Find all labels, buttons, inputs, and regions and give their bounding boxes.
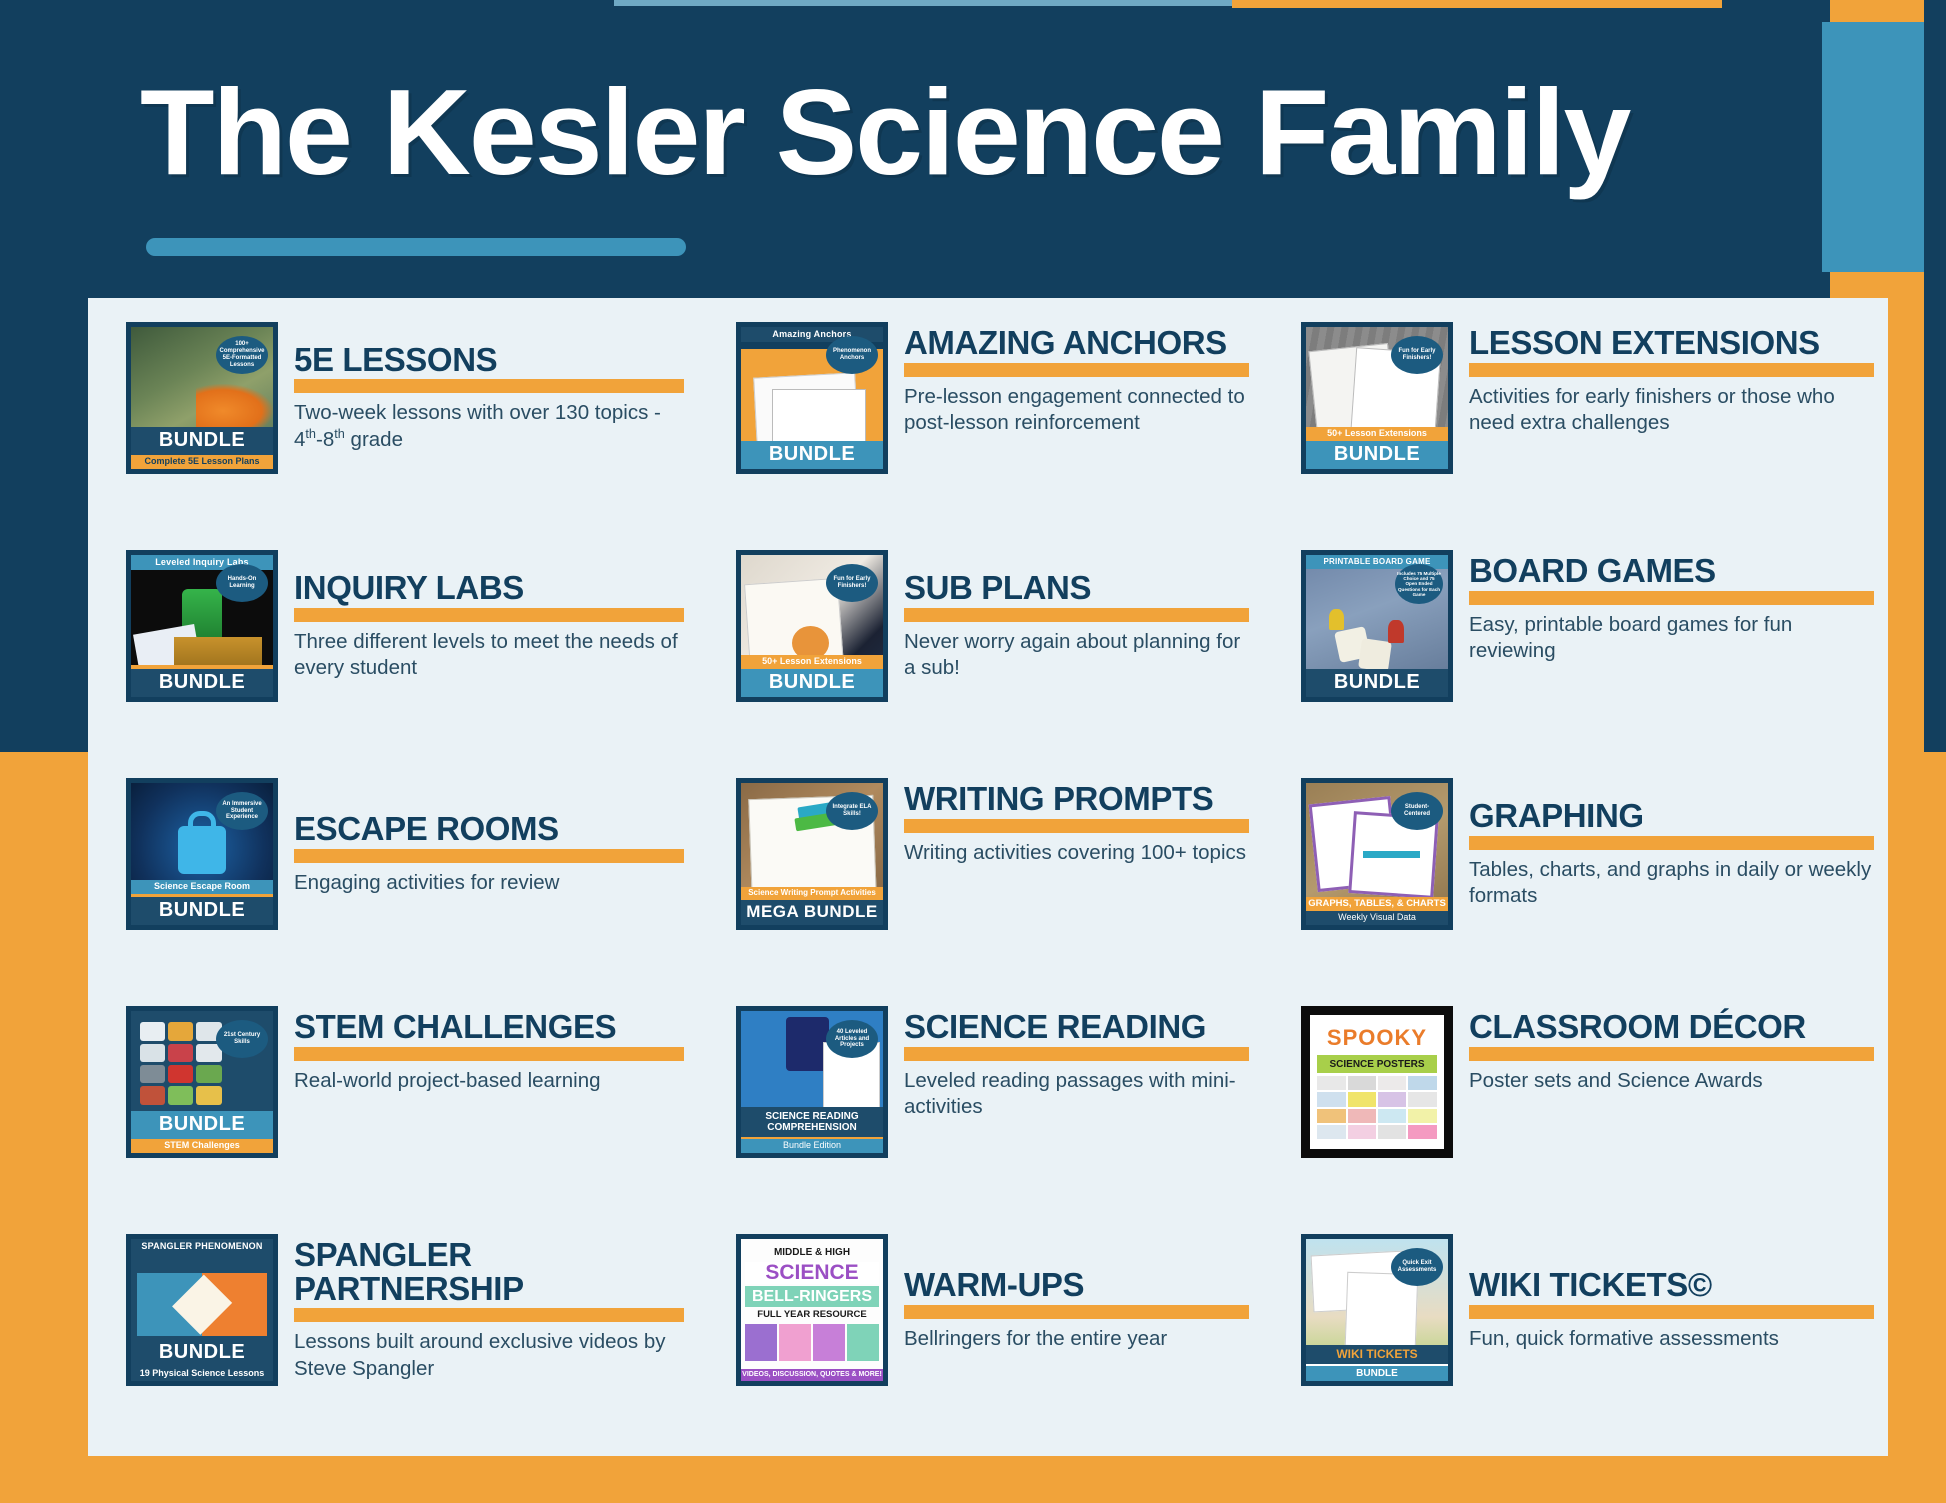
product-thumbnail-graphing: Student-Centered GRAPHS, TABLES, & CHART… [1301, 778, 1453, 930]
page-title: The Kesler Science Family [140, 62, 1629, 202]
product-thumbnail-spangler: SPANGLER PHENOMENON BUNDLE 19 Physical S… [126, 1234, 278, 1386]
product-title: BOARD GAMES [1469, 554, 1874, 588]
thumbnail-bundle-label: BUNDLE [741, 441, 883, 469]
product-grid: 100+ Comprehensive 5E-Formatted Lessons … [88, 298, 1888, 1456]
product-title: SPANGLER PARTNERSHIP [294, 1238, 684, 1305]
product-body: 5E LESSONS Two-week lessons with over 13… [278, 322, 684, 474]
dice-second-icon [1358, 638, 1392, 672]
thumbnail-band-label: Complete 5E Lesson Plans [131, 455, 273, 469]
product-grid-card: 100+ Comprehensive 5E-Formatted Lessons … [88, 298, 1888, 1456]
thumbnail-wrap: 40 Leveled Articles and Projects SCIENCE… [736, 1006, 888, 1158]
title-rule-orange [904, 363, 1249, 377]
product-body: GRAPHING Tables, charts, and graphs in d… [1453, 778, 1874, 930]
title-rule-orange [1469, 363, 1874, 377]
product-body: SCIENCE READING Leveled reading passages… [888, 1006, 1249, 1158]
thumbnail-footer: BUNDLE [131, 665, 273, 697]
thumbnail-footer: BUNDLE 19 Physical Science Lessons [131, 1339, 273, 1381]
game-pawn-red-icon [1388, 620, 1404, 643]
product-title: AMAZING ANCHORS [904, 326, 1249, 360]
product-title: STEM CHALLENGES [294, 1010, 684, 1044]
product-body: WARM-UPS Bellringers for the entire year [888, 1234, 1249, 1386]
bellringers-word-icon: BELL-RINGERS [745, 1286, 879, 1307]
thumbnail-band-label: WIKI TICKETS [1306, 1345, 1448, 1364]
product-thumbnail-amazing-anchors: Amazing Anchors Phenomenon Anchors BUNDL… [736, 322, 888, 474]
product-thumbnail-sub-plans: Fun for Early Finishers! 50+ Lesson Exte… [736, 550, 888, 702]
product-description: Activities for early finishers or those … [1469, 384, 1874, 436]
product-description: Fun, quick formative assessments [1469, 1326, 1874, 1352]
product-description: Lessons built around exclusive videos by… [294, 1329, 684, 1381]
thumbnail-badge: 100+ Comprehensive 5E-Formatted Lessons [216, 336, 268, 374]
thumbnail-footer: WIKI TICKETS BUNDLE [1306, 1345, 1448, 1381]
thumbnail-wrap: SPANGLER PHENOMENON BUNDLE 19 Physical S… [126, 1234, 278, 1386]
thumbnail-band-label: 50+ Lesson Extensions [741, 655, 883, 669]
product-title: WRITING PROMPTS [904, 782, 1249, 816]
poster-root: The Kesler Science Family 100+ Comprehen… [0, 0, 1946, 1503]
thumbnail-band-label: STEM Challenges [131, 1139, 273, 1153]
product-item-amazing-anchors[interactable]: Amazing Anchors Phenomenon Anchors BUNDL… [698, 316, 1263, 544]
thumbnail-bundle-label: BUNDLE [741, 669, 883, 697]
product-description: Tables, charts, and graphs in daily or w… [1469, 857, 1874, 909]
thumbnail-wrap: 21st Century Skills BUNDLE STEM Challeng… [126, 1006, 278, 1158]
product-item-sub-plans[interactable]: Fun for Early Finishers! 50+ Lesson Exte… [698, 544, 1263, 772]
product-description: Bellringers for the entire year [904, 1326, 1249, 1352]
product-item-inquiry-labs[interactable]: Leveled Inquiry Labs Hands-On Learning B… [88, 544, 698, 772]
product-item-stem-challenges[interactable]: 21st Century Skills BUNDLE STEM Challeng… [88, 1000, 698, 1228]
title-rule-orange [904, 1047, 1249, 1061]
middle-high-label-icon: MIDDLE & HIGH [745, 1243, 879, 1261]
product-item-5e-lessons[interactable]: 100+ Comprehensive 5E-Formatted Lessons … [88, 316, 698, 544]
thumbnail-band-label: 19 Physical Science Lessons [131, 1367, 273, 1381]
product-body: CLASSROOM DÉCOR Poster sets and Science … [1453, 1006, 1874, 1158]
thumbnail-badge: 40 Leveled Articles and Projects [826, 1020, 878, 1058]
thumbnail-badge: Quick Exit Assessments [1391, 1248, 1443, 1286]
product-body: WRITING PROMPTS Writing activities cover… [888, 778, 1249, 930]
product-title: LESSON EXTENSIONS [1469, 326, 1874, 360]
thumbnail-wrap: Leveled Inquiry Labs Hands-On Learning B… [126, 550, 278, 702]
product-title: INQUIRY LABS [294, 571, 684, 605]
product-item-graphing[interactable]: Student-Centered GRAPHS, TABLES, & CHART… [1263, 772, 1888, 1000]
thumbnail-badge: Integrate ELA Skills! [826, 792, 878, 830]
product-description: Two-week lessons with over 130 topics - … [294, 400, 684, 453]
thumbnail-footer: BUNDLE [1306, 669, 1448, 697]
title-rule-orange [1469, 591, 1874, 605]
product-description: Poster sets and Science Awards [1469, 1068, 1874, 1094]
product-body: SPANGLER PARTNERSHIP Lessons built aroun… [278, 1234, 684, 1386]
product-title: GRAPHING [1469, 799, 1874, 833]
stem-icon-grid [140, 1022, 222, 1104]
thumbnail-top-label: SPANGLER PHENOMENON [131, 1239, 273, 1254]
product-body: WIKI TICKETS© Fun, quick formative asses… [1453, 1234, 1874, 1386]
product-item-escape-rooms[interactable]: An Immersive Student Experience Science … [88, 772, 698, 1000]
thumbnail-badge: Phenomenon Anchors [826, 336, 878, 374]
product-title: SCIENCE READING [904, 1010, 1249, 1044]
product-body: SUB PLANS Never worry again about planni… [888, 550, 1249, 702]
product-thumbnail-warm-ups: MIDDLE & HIGH SCIENCE BELL-RINGERS FULL … [736, 1234, 888, 1386]
thumbnail-wrap: Fun for Early Finishers! 50+ Lesson Exte… [736, 550, 888, 702]
thumbnail-bundle-label: BUNDLE [131, 894, 273, 925]
thumbnail-footer: 50+ Lesson Extensions BUNDLE [1306, 427, 1448, 469]
thumbnail-bundle-label: SCIENCE READING COMPREHENSION [741, 1107, 883, 1137]
product-description: Three different levels to meet the needs… [294, 629, 684, 681]
product-thumbnail-inquiry-labs: Leveled Inquiry Labs Hands-On Learning B… [126, 550, 278, 702]
thumbnail-bundle-label: Weekly Visual Data [1306, 911, 1448, 925]
thumbnail-footer: VIDEOS, DISCUSSION, QUOTES & MORE! [741, 1369, 883, 1381]
preview-thumbnails-icon [745, 1324, 879, 1361]
product-thumbnail-lesson-extensions: Fun for Early Finishers! 50+ Lesson Exte… [1301, 322, 1453, 474]
title-rule-orange [294, 1308, 684, 1322]
thumbnail-footer: Science Writing Prompt Activities MEGA B… [741, 887, 883, 925]
product-item-science-reading[interactable]: 40 Leveled Articles and Projects SCIENCE… [698, 1000, 1263, 1228]
thumbnail-footer: SCIENCE READING COMPREHENSION Bundle Edi… [741, 1107, 883, 1153]
thumbnail-band-label: 50+ Lesson Extensions [1306, 427, 1448, 441]
product-description: Real-world project-based learning [294, 1068, 684, 1094]
title-underline-rule [146, 238, 686, 256]
bar-chart-icon [1363, 851, 1420, 858]
product-item-wiki-tickets[interactable]: Quick Exit Assessments WIKI TICKETS BUND… [1263, 1228, 1888, 1456]
title-rule-orange [294, 1047, 684, 1061]
thumbnail-wrap: Integrate ELA Skills! Science Writing Pr… [736, 778, 888, 930]
thumbnail-band-label: Science Writing Prompt Activities [741, 887, 883, 900]
product-title: CLASSROOM DÉCOR [1469, 1010, 1874, 1044]
title-rule-orange [1469, 1047, 1874, 1061]
product-item-warm-ups[interactable]: MIDDLE & HIGH SCIENCE BELL-RINGERS FULL … [698, 1228, 1263, 1456]
product-title: SUB PLANS [904, 571, 1249, 605]
thumbnail-bundle-label: BUNDLE [131, 669, 273, 697]
product-thumbnail-stem-challenges: 21st Century Skills BUNDLE STEM Challeng… [126, 1006, 278, 1158]
thumbnail-footer: BUNDLE [741, 441, 883, 469]
thumbnail-bundle-label: BUNDLE [131, 1339, 273, 1367]
thumbnail-wrap: Fun for Early Finishers! 50+ Lesson Exte… [1301, 322, 1453, 474]
thumbnail-wrap: PRINTABLE BOARD GAME Includes 75 Multipl… [1301, 550, 1453, 702]
title-rule-orange [294, 608, 684, 622]
product-body: STEM CHALLENGES Real-world project-based… [278, 1006, 684, 1158]
thumbnail-wrap: SPOOKY SCIENCE POSTERS [1301, 1006, 1453, 1158]
product-description: Leveled reading passages with mini-activ… [904, 1068, 1249, 1120]
thumbnail-bundle-label: MEGA BUNDLE [741, 900, 883, 925]
product-description: Never worry again about planning for a s… [904, 629, 1249, 681]
thumbnail-band-label: Science Escape Room [131, 880, 273, 894]
thumbnail-footer: BUNDLE Complete 5E Lesson Plans [131, 427, 273, 469]
thumbnail-band-label: GRAPHS, TABLES, & CHARTS [1306, 897, 1448, 911]
thumbnail-bundle-label: BUNDLE [1306, 669, 1448, 697]
product-title: ESCAPE ROOMS [294, 812, 684, 846]
spooky-title-icon: SPOOKY [1317, 1022, 1436, 1053]
thumbnail-badge: Student-Centered [1391, 792, 1443, 830]
thumbnail-footer: BUNDLE STEM Challenges [131, 1111, 273, 1153]
thumbnail-bundle-label: BUNDLE [1306, 1364, 1448, 1381]
product-title: WIKI TICKETS© [1469, 1268, 1874, 1302]
thumbnail-bundle-label: BUNDLE [1306, 441, 1448, 469]
product-thumbnail-writing-prompts: Integrate ELA Skills! Science Writing Pr… [736, 778, 888, 930]
thumbnail-wrap: MIDDLE & HIGH SCIENCE BELL-RINGERS FULL … [736, 1234, 888, 1386]
product-title: WARM-UPS [904, 1268, 1249, 1302]
product-item-spangler-partnership[interactable]: SPANGLER PHENOMENON BUNDLE 19 Physical S… [88, 1228, 698, 1456]
product-title: 5E LESSONS [294, 343, 684, 377]
thumbnail-bundle-label: BUNDLE [131, 1111, 273, 1139]
product-description: Easy, printable board games for fun revi… [1469, 612, 1874, 664]
thumbnail-band-label: VIDEOS, DISCUSSION, QUOTES & MORE! [741, 1369, 883, 1381]
title-rule-orange [904, 608, 1249, 622]
thumbnail-badge: Fun for Early Finishers! [1391, 336, 1443, 374]
title-rule-orange [904, 819, 1249, 833]
thumbnail-badge: Hands-On Learning [216, 564, 268, 602]
product-body: ESCAPE ROOMS Engaging activities for rev… [278, 778, 684, 930]
product-thumbnail-classroom-decor: SPOOKY SCIENCE POSTERS [1301, 1006, 1453, 1158]
game-pawn-yellow-icon [1329, 609, 1345, 630]
product-item-writing-prompts[interactable]: Integrate ELA Skills! Science Writing Pr… [698, 772, 1263, 1000]
title-rule-orange [294, 379, 684, 393]
padlock-shackle-icon [188, 811, 216, 834]
product-description: Engaging activities for review [294, 870, 684, 896]
product-thumbnail-escape-rooms: An Immersive Student Experience Science … [126, 778, 278, 930]
product-item-lesson-extensions[interactable]: Fun for Early Finishers! 50+ Lesson Exte… [1263, 316, 1888, 544]
product-description: Writing activities covering 100+ topics [904, 840, 1249, 866]
title-rule-orange [294, 849, 684, 863]
poster-header: The Kesler Science Family [0, 0, 1830, 300]
science-word-icon: SCIENCE [745, 1262, 879, 1285]
title-rule-orange [1469, 1305, 1874, 1319]
thumbnail-wrap: Amazing Anchors Phenomenon Anchors BUNDL… [736, 322, 888, 474]
thumbnail-badge: Fun for Early Finishers! [826, 564, 878, 602]
thumbnail-wrap: 100+ Comprehensive 5E-Formatted Lessons … [126, 322, 278, 474]
thumbnail-wrap: Student-Centered GRAPHS, TABLES, & CHART… [1301, 778, 1453, 930]
poster-thumbnail-grid-icon [1317, 1076, 1436, 1139]
thumbnail-wrap: An Immersive Student Experience Science … [126, 778, 278, 930]
thumbnail-footer: GRAPHS, TABLES, & CHARTS Weekly Visual D… [1306, 897, 1448, 925]
thumbnail-bundle-label: BUNDLE [131, 427, 273, 455]
product-thumbnail-wiki-tickets: Quick Exit Assessments WIKI TICKETS BUND… [1301, 1234, 1453, 1386]
product-body: BOARD GAMES Easy, printable board games … [1453, 550, 1874, 702]
full-year-resource-icon: FULL YEAR RESOURCE [745, 1307, 879, 1323]
product-thumbnail-5e-lessons: 100+ Comprehensive 5E-Formatted Lessons … [126, 322, 278, 474]
thumbnail-footer: 50+ Lesson Extensions BUNDLE [741, 655, 883, 697]
thumbnail-band-label: Bundle Edition [741, 1137, 883, 1153]
product-body: INQUIRY LABS Three different levels to m… [278, 550, 684, 702]
product-item-classroom-decor[interactable]: SPOOKY SCIENCE POSTERS CLASSROOM DÉCOR P… [1263, 1000, 1888, 1228]
science-posters-band-icon: SCIENCE POSTERS [1317, 1055, 1436, 1073]
thumbnail-footer: Science Escape Room BUNDLE [131, 880, 273, 925]
product-thumbnail-board-games: PRINTABLE BOARD GAME Includes 75 Multipl… [1301, 550, 1453, 702]
product-thumbnail-science-reading: 40 Leveled Articles and Projects SCIENCE… [736, 1006, 888, 1158]
product-body: AMAZING ANCHORS Pre-lesson engagement co… [888, 322, 1249, 474]
thumbnail-badge: An Immersive Student Experience [216, 792, 268, 830]
thumbnail-badge: 21st Century Skills [216, 1020, 268, 1058]
product-body: LESSON EXTENSIONS Activities for early f… [1453, 322, 1874, 474]
thumbnail-wrap: Quick Exit Assessments WIKI TICKETS BUND… [1301, 1234, 1453, 1386]
background-band-navy-right [1924, 0, 1946, 760]
title-rule-orange [1469, 836, 1874, 850]
title-rule-orange [904, 1305, 1249, 1319]
thumbnail-badge: Includes 75 Multiple Choice and 75 Open … [1395, 564, 1443, 604]
product-item-board-games[interactable]: PRINTABLE BOARD GAME Includes 75 Multipl… [1263, 544, 1888, 772]
product-description: Pre-lesson engagement connected to post-… [904, 384, 1249, 436]
